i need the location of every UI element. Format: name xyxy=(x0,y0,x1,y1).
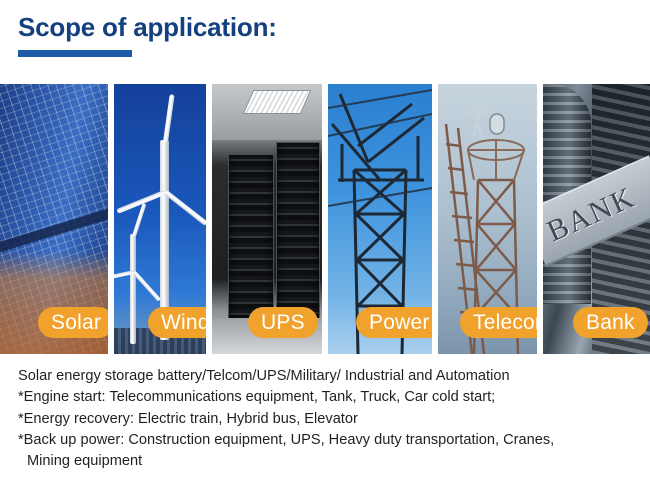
ceiling xyxy=(212,84,322,140)
title-block: Scope of application: xyxy=(18,12,418,57)
panel-ups[interactable]: UPS xyxy=(212,84,322,354)
panel-telecom[interactable]: Telecom xyxy=(438,84,537,354)
panel-bank[interactable]: BANK Bank xyxy=(543,84,650,354)
panel-label-power: Power xyxy=(356,307,432,338)
panel-label-ups: UPS xyxy=(248,307,318,338)
application-image-strip: Solar Wind xyxy=(0,84,650,354)
server-rack xyxy=(228,154,274,321)
turbine-blade xyxy=(133,271,161,302)
title-underline-rule xyxy=(18,50,132,57)
description-line: *Engine start: Telecommunications equipm… xyxy=(18,387,632,408)
server-rack xyxy=(276,142,320,326)
panel-label-wind: Wind xyxy=(148,307,206,338)
panel-label-telecom: Telecom xyxy=(460,307,537,338)
panel-wind[interactable]: Wind xyxy=(114,84,206,354)
panel-label-bank: Bank xyxy=(573,307,648,338)
turbine-tower xyxy=(130,234,136,344)
panel-solar[interactable]: Solar xyxy=(0,84,108,354)
turbine-blade xyxy=(163,94,175,142)
description-line: *Energy recovery: Electric train, Hybrid… xyxy=(18,409,632,430)
panel-label-solar: Solar xyxy=(38,307,108,338)
turbine-blade xyxy=(132,203,146,237)
description-line: *Back up power: Construction equipment, … xyxy=(18,430,632,451)
panel-power[interactable]: Power xyxy=(328,84,432,354)
description-line: Mining equipment xyxy=(18,451,632,472)
description-line: Solar energy storage battery/Telcom/UPS/… xyxy=(18,366,632,387)
page-title: Scope of application: xyxy=(18,12,418,43)
ceiling-light-fixture xyxy=(243,90,312,114)
turbine-blade xyxy=(164,190,206,226)
description-text-block: Solar energy storage battery/Telcom/UPS/… xyxy=(18,366,632,472)
